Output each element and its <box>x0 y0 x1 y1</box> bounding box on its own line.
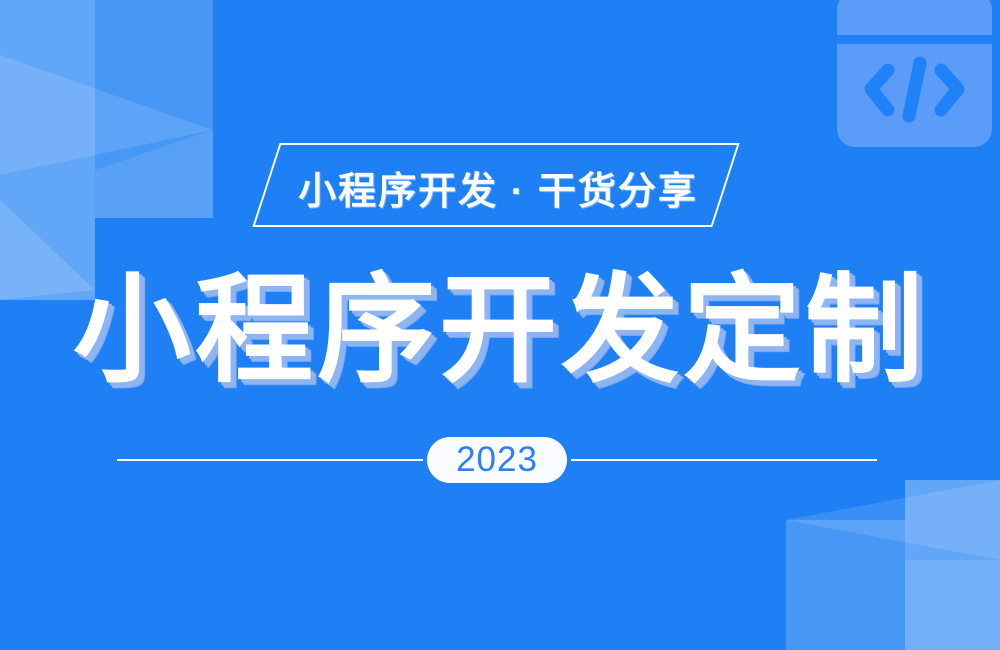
subtitle-banner: 小程序开发 · 干货分享 <box>248 141 748 233</box>
year-rule-left <box>117 459 423 461</box>
year-divider-row: 2023 <box>117 437 877 483</box>
code-window-icon <box>837 0 992 147</box>
deco-top-left-chevron-lower <box>95 130 213 218</box>
year-rule-right <box>571 459 877 461</box>
deco-bottom-right-wedge <box>905 560 1000 650</box>
subtitle-text: 小程序开发 · 干货分享 <box>248 141 748 233</box>
code-window-titlebar-divider <box>837 35 992 44</box>
deco-bottom-right-chevron <box>786 480 1000 560</box>
deco-bottom-right-column <box>786 520 905 650</box>
deco-bottom-right-band <box>905 480 1000 650</box>
promo-banner: 小程序开发 · 干货分享 小程序开发定制 2023 <box>0 0 1000 650</box>
deco-top-left-column <box>95 0 213 218</box>
year-badge: 2023 <box>427 437 567 483</box>
deco-top-left-chevron <box>0 55 213 175</box>
page-title: 小程序开发定制 <box>0 272 1000 390</box>
deco-top-left-band <box>0 0 95 300</box>
